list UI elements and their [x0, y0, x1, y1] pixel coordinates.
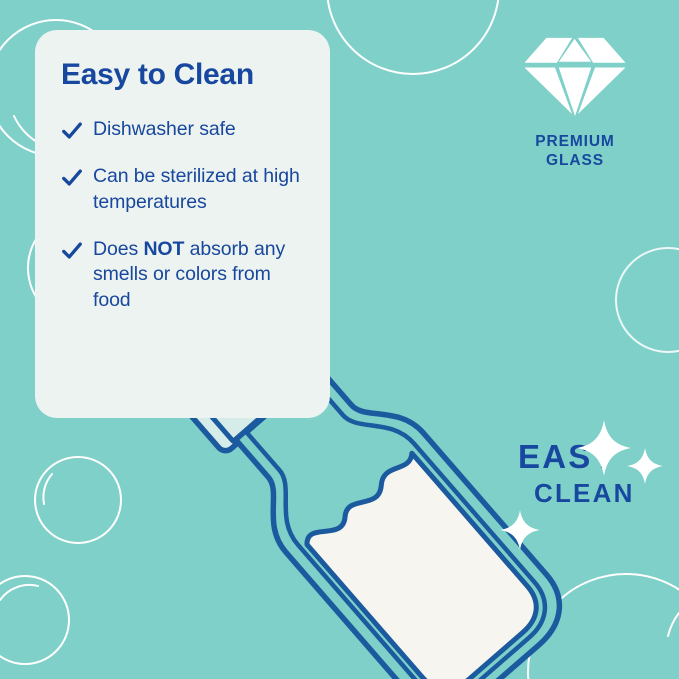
- premium-glass-badge: PREMIUM GLASS: [505, 36, 645, 171]
- list-item-label: Dishwasher safe: [93, 117, 236, 142]
- page-title: Easy to Clean: [61, 58, 304, 91]
- easy-clean-line-2: CLEAN: [534, 480, 635, 506]
- badge-line-2: GLASS: [505, 151, 645, 170]
- list-item: Does NOT absorb any smells or colors fro…: [61, 237, 304, 313]
- badge-line-1: PREMIUM: [505, 132, 645, 151]
- feature-card: Easy to Clean Dishwasher safe Can be ste…: [35, 30, 330, 418]
- diamond-icon: [522, 36, 628, 118]
- list-item-label: Can be sterilized at high temperatures: [93, 164, 304, 215]
- check-icon: [61, 240, 83, 262]
- easy-clean-line-1: EASY: [518, 440, 635, 473]
- list-item: Dishwasher safe: [61, 117, 304, 142]
- list-item: Can be sterilized at high temperatures: [61, 164, 304, 215]
- feature-list: Dishwasher safe Can be sterilized at hig…: [61, 117, 304, 313]
- check-icon: [61, 167, 83, 189]
- infographic-canvas: Easy to Clean Dishwasher safe Can be ste…: [0, 0, 679, 679]
- list-item-text-before: Does: [93, 238, 143, 260]
- list-item-label: Does NOT absorb any smells or colors fro…: [93, 237, 304, 313]
- check-icon: [61, 120, 83, 142]
- list-item-emphasis: NOT: [143, 238, 184, 260]
- easy-clean-lockup: EASY CLEAN: [518, 440, 635, 506]
